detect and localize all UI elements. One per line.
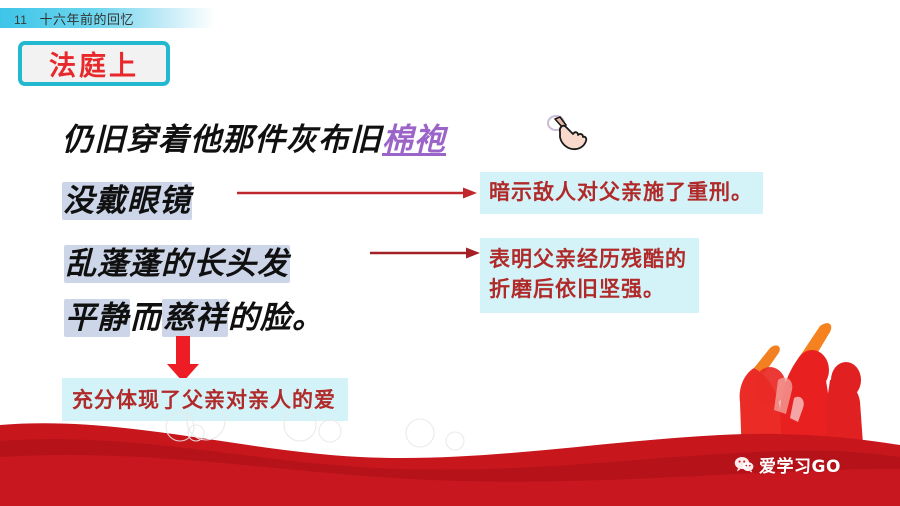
slide-canvas: 11十六年前的回忆 法庭上 仍旧穿着他那件灰布旧棉袍 没戴眼镜 暗示敌人对父亲施… <box>0 0 900 506</box>
arrow-right-icon <box>237 186 477 200</box>
header-breadcrumb: 11十六年前的回忆 <box>14 9 134 28</box>
section-title-box: 法庭上 <box>18 41 170 86</box>
arrow-down-icon <box>163 336 203 382</box>
quote-line-messy-hair: 乱蓬蓬的长头发 <box>64 238 290 283</box>
quote-line-4-tail: 的脸。 <box>228 300 324 336</box>
watermark: 爱学习GO <box>734 452 841 477</box>
lesson-number: 11 <box>14 13 27 27</box>
callout-strong-after-torture: 表明父亲经历残酷的 折磨后依旧坚强。 <box>480 238 699 313</box>
quote-line-calm-face: 平静而慈祥的脸。 <box>64 292 324 337</box>
quote-line-coat: 仍旧穿着他那件灰布旧棉袍 <box>62 114 446 159</box>
hand-pointer-icon <box>546 112 592 152</box>
highlight-kind: 慈祥 <box>162 299 228 337</box>
watermark-text: 爱学习GO <box>759 452 841 477</box>
highlight-no-glasses: 没戴眼镜 <box>62 182 192 220</box>
quote-line-4-conn: 而 <box>130 300 162 336</box>
highlight-messy-hair: 乱蓬蓬的长头发 <box>64 245 290 283</box>
keyword-cotton-robe: 棉袍 <box>382 122 446 158</box>
section-title-text: 法庭上 <box>49 44 139 83</box>
quote-line-1-plain: 仍旧穿着他那件灰布旧 <box>62 122 382 158</box>
arrow-right-icon-2 <box>370 246 480 260</box>
callout-hint-torture: 暗示敌人对父亲施了重刑。 <box>480 172 763 214</box>
wechat-icon <box>734 456 754 473</box>
highlight-calm: 平静 <box>64 299 130 337</box>
quote-line-no-glasses: 没戴眼镜 <box>62 175 192 220</box>
lesson-title: 十六年前的回忆 <box>39 12 134 27</box>
